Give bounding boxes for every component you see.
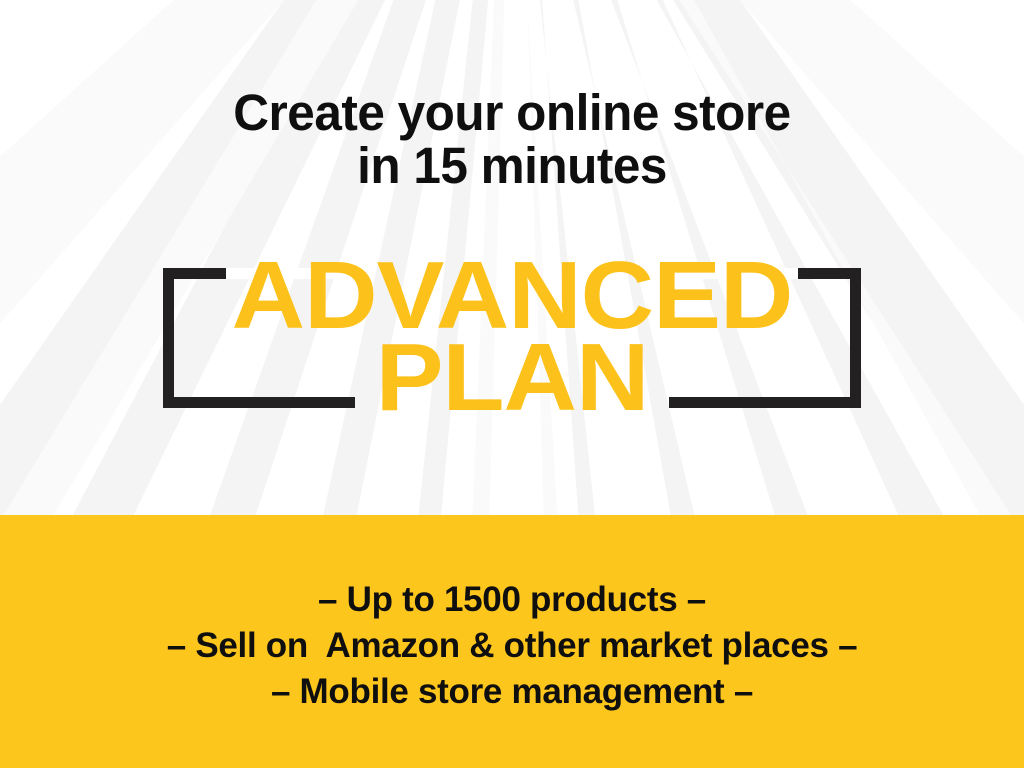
feature-item: – Up to 1500 products – [0, 577, 1024, 623]
feature-item: – Sell on Amazon & other market places – [0, 623, 1024, 669]
headline-line-2: in 15 minutes [15, 139, 1008, 192]
plan-name-line-2: PLAN [0, 330, 1024, 426]
feature-item: – Mobile store management – [0, 669, 1024, 715]
feature-band: – Up to 1500 products – – Sell on Amazon… [0, 515, 1024, 768]
promo-canvas: Create your online store in 15 minutes A… [0, 0, 1024, 768]
plan-lockup: ADVANCED PLAN [0, 248, 1024, 423]
headline-line-1: Create your online store [15, 86, 1008, 139]
page-title: Create your online store in 15 minutes [15, 86, 1008, 192]
feature-list: – Up to 1500 products – – Sell on Amazon… [0, 577, 1024, 715]
